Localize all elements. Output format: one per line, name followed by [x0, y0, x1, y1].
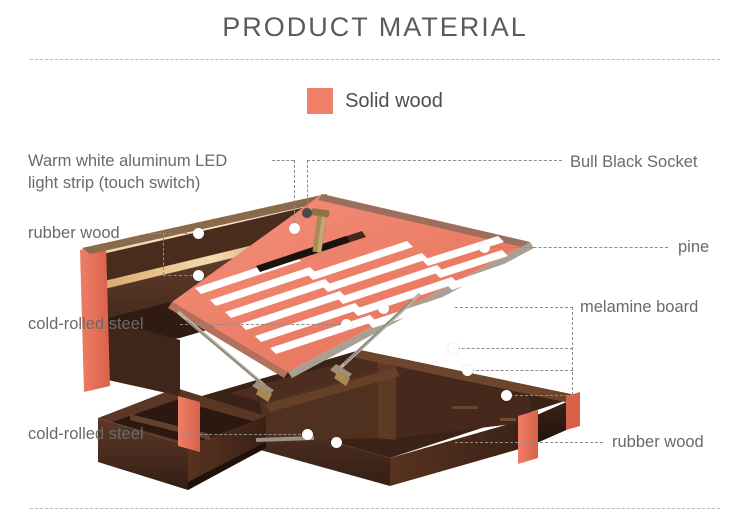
callout-label-led-strip-line1: Warm white aluminum LED: [28, 150, 227, 172]
marker-bull-black-socket: [302, 208, 312, 218]
legend: Solid wood: [0, 88, 750, 114]
leader-coldsteel-lower-h: [180, 434, 306, 435]
callout-label-pine: pine: [678, 236, 709, 258]
product-image-storage-bed: [60, 190, 680, 490]
leader-melamine-h-b1: [452, 348, 573, 349]
marker-rubber-wood-top-2: [193, 270, 204, 281]
callout-label-bull-black-socket: Bull Black Socket: [570, 151, 697, 173]
callout-label-cold-rolled-steel-lower: cold-rolled steel: [28, 423, 144, 445]
marker-led-strip: [289, 223, 300, 234]
callout-label-led-strip: Warm white aluminum LED light strip (tou…: [28, 150, 227, 194]
callout-label-led-strip-line2: light strip (touch switch): [28, 172, 227, 194]
leader-led-strip-v: [294, 160, 295, 228]
leader-melamine-h-b3: [505, 395, 573, 396]
product-material-infographic: PRODUCT MATERIAL Solid wood: [0, 0, 750, 530]
leader-melamine-h-b2: [466, 370, 573, 371]
leader-rubberwood-top-v: [163, 233, 164, 275]
marker-pine: [479, 242, 490, 253]
leader-melamine-v: [572, 307, 573, 395]
divider-top: [30, 59, 720, 60]
marker-melamine-4: [501, 390, 512, 401]
marker-melamine-3: [462, 365, 473, 376]
callout-label-cold-rolled-steel-upper: cold-rolled steel: [28, 313, 144, 335]
divider-bottom: [30, 508, 720, 509]
legend-label: Solid wood: [345, 90, 443, 113]
marker-cold-rolled-steel-lower: [302, 429, 313, 440]
page-title: PRODUCT MATERIAL: [0, 12, 750, 43]
leader-melamine-h-main: [455, 307, 573, 308]
marker-rubber-wood-top: [193, 228, 204, 239]
callout-label-rubber-wood-bottom: rubber wood: [612, 431, 704, 453]
marker-melamine-2: [448, 343, 459, 354]
leader-socket-v: [307, 160, 308, 212]
marker-cold-rolled-steel-upper: [341, 319, 352, 330]
leader-coldsteel-upper-h: [180, 324, 345, 325]
callout-label-melamine-board: melamine board: [580, 296, 698, 318]
marker-rubber-wood-bottom: [331, 437, 342, 448]
leader-rubberwood-top-h1: [148, 233, 198, 234]
leader-rubberwood-bottom-h2: [510, 442, 603, 443]
marker-melamine-1: [378, 303, 389, 314]
leader-socket-h: [307, 160, 562, 161]
leader-pine-h: [488, 247, 668, 248]
callout-label-rubber-wood-top: rubber wood: [28, 222, 120, 244]
color-swatch-icon: [307, 88, 333, 114]
leader-led-strip-h1: [272, 160, 294, 161]
